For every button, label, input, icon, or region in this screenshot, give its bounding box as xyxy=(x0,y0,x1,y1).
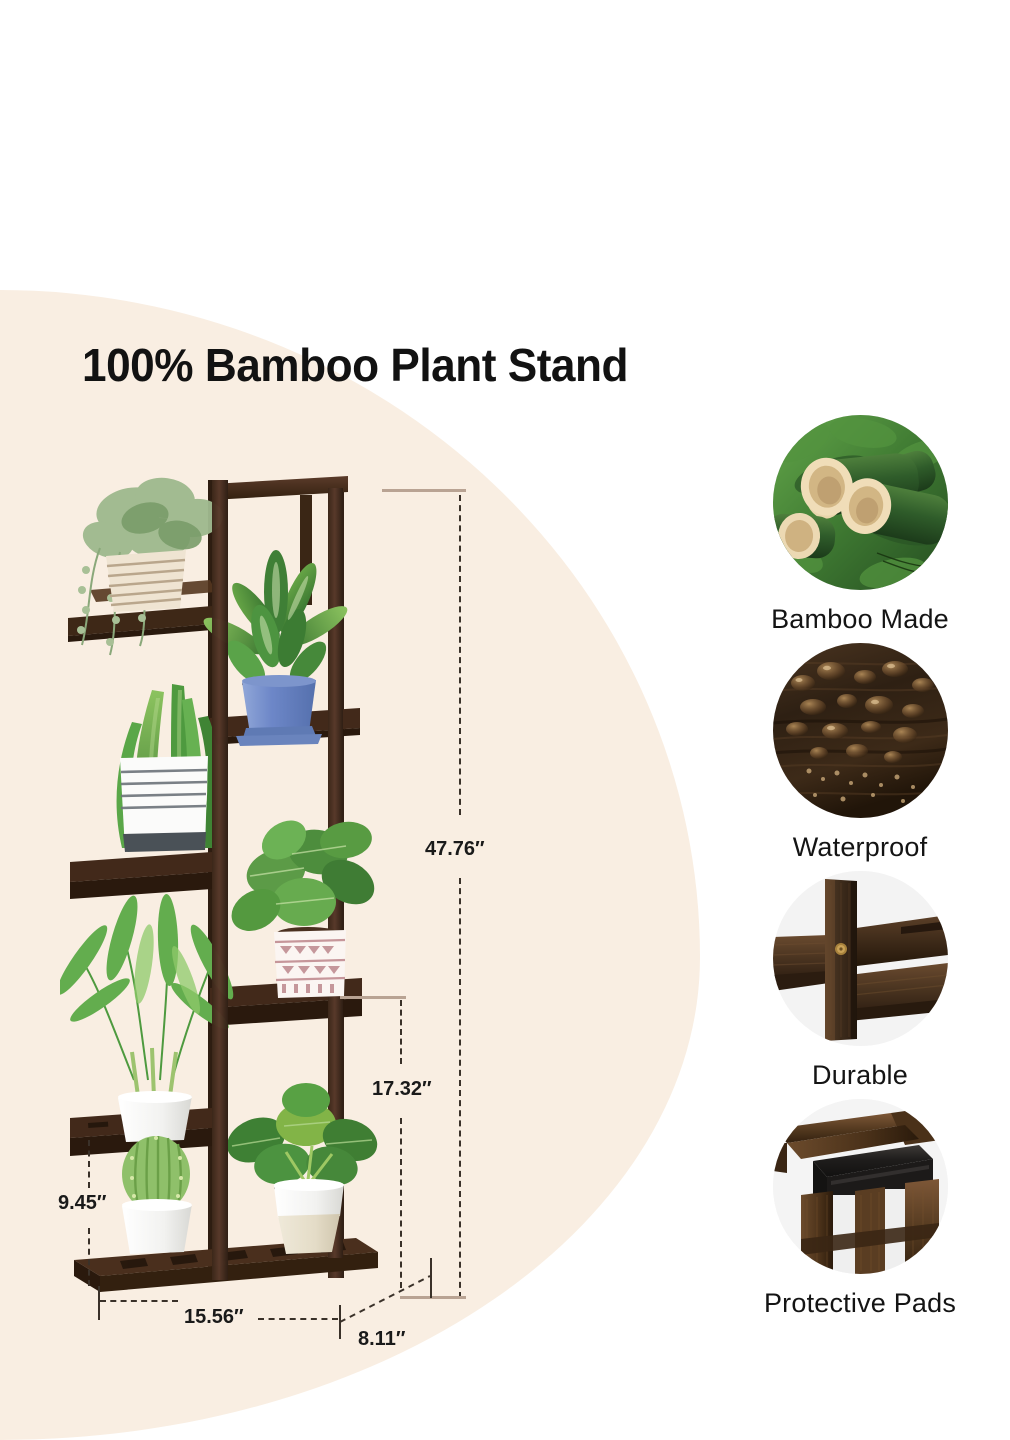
wood-joint-icon xyxy=(773,871,948,1046)
dim-extension-line-mid-top xyxy=(340,996,406,999)
feature-label-waterproof: Waterproof xyxy=(793,832,928,863)
dim-dash-height-upper xyxy=(459,495,461,815)
feature-item-durable: Durable xyxy=(710,871,1010,1091)
dim-extension-line-top xyxy=(382,489,466,492)
feature-label-protective-pads: Protective Pads xyxy=(764,1288,956,1319)
dim-tick-width-left xyxy=(98,1286,100,1320)
feature-label-durable: Durable xyxy=(812,1060,908,1091)
dim-dash-shelf-lower xyxy=(400,1118,402,1288)
dim-tick-depth-end xyxy=(430,1258,432,1298)
feature-item-bamboo-made: Bamboo Made xyxy=(710,415,1010,635)
dim-dash-width-right xyxy=(258,1318,338,1320)
dim-dash-shelf-upper xyxy=(400,1000,402,1064)
dim-dash-bottom-upper xyxy=(88,1140,90,1188)
page-title: 100% Bamboo Plant Stand xyxy=(82,338,628,392)
dim-label-width: 15.56″ xyxy=(184,1306,244,1329)
dim-label-shelf-height: 17.32″ xyxy=(372,1078,432,1101)
product-image xyxy=(60,440,440,1320)
dim-dash-depth xyxy=(338,1270,438,1330)
water-droplets-icon xyxy=(773,643,948,818)
feature-item-protective-pads: Protective Pads xyxy=(710,1099,1010,1319)
feature-list: Bamboo Made xyxy=(710,415,1010,1327)
dim-dash-height-lower xyxy=(459,878,461,1298)
dim-label-total-height: 47.76″ xyxy=(425,838,485,861)
dim-dash-width-left xyxy=(100,1300,178,1302)
protective-pad-icon xyxy=(773,1099,948,1274)
dim-label-depth: 8.11″ xyxy=(358,1328,405,1351)
feature-label-bamboo-made: Bamboo Made xyxy=(771,604,949,635)
bamboo-poles-icon xyxy=(773,415,948,590)
dim-dash-bottom-lower xyxy=(88,1228,90,1286)
feature-item-waterproof: Waterproof xyxy=(710,643,1010,863)
dim-label-bottom-height: 9.45″ xyxy=(58,1192,107,1215)
